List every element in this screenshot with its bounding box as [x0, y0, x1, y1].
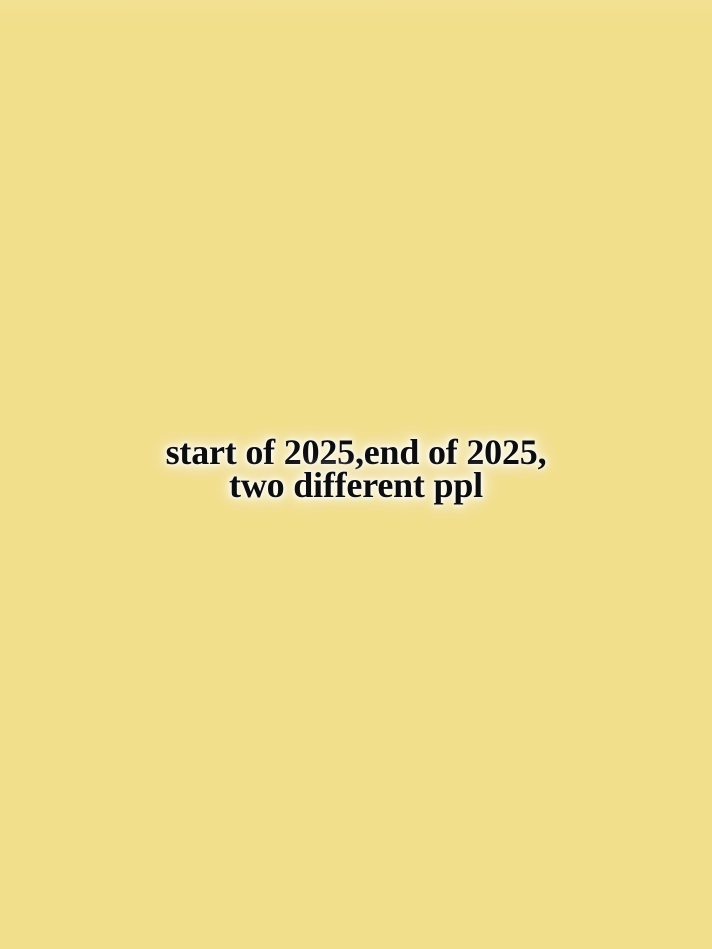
caption-line-2: two different ppl — [0, 467, 712, 503]
video-caption-canvas: start of 2025,end of 2025, two different… — [0, 0, 712, 949]
caption-text-block: start of 2025,end of 2025, two different… — [0, 434, 712, 503]
top-edge-sheen — [0, 0, 712, 26]
